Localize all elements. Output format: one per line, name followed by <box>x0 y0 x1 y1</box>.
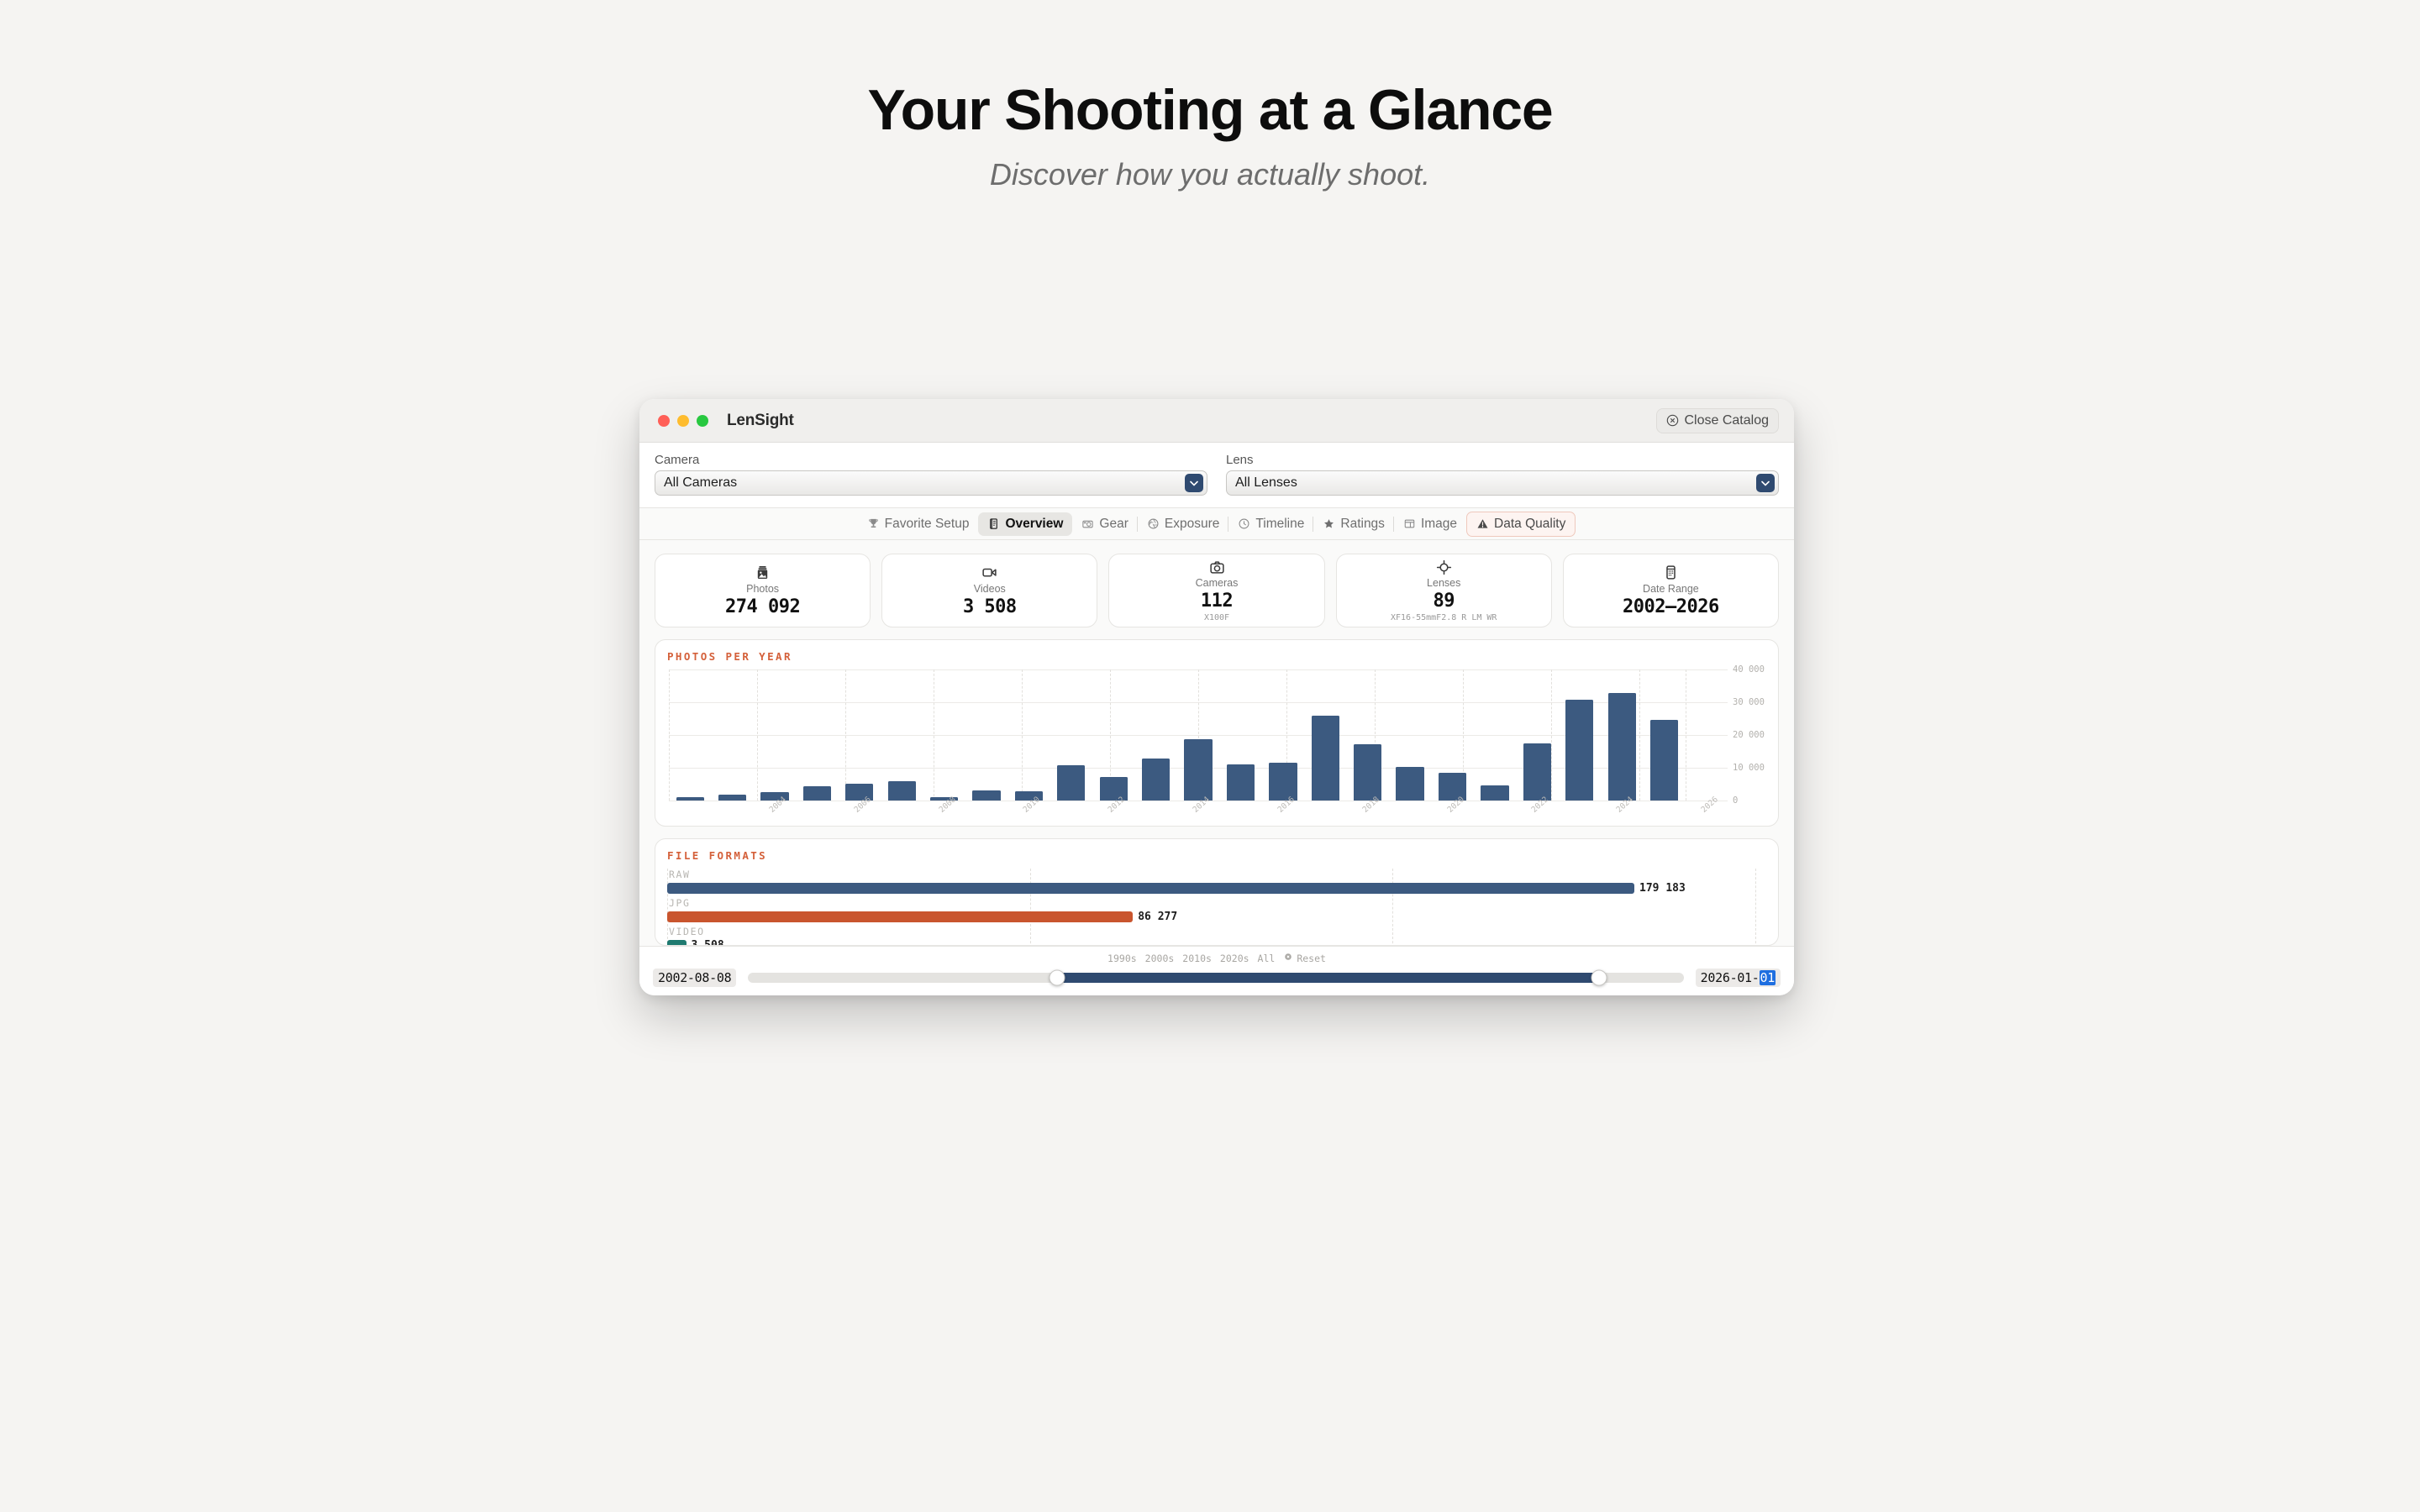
tab-data-quality[interactable]: Data Quality <box>1466 512 1576 537</box>
maximize-window-button[interactable] <box>697 415 708 427</box>
date-range-start-handle[interactable] <box>1049 970 1065 986</box>
x-axis-slot: 2004 <box>754 801 796 819</box>
y-axis-tick-label: 0 <box>1733 795 1738 806</box>
stat-label: Lenses <box>1427 577 1460 589</box>
tab-ratings[interactable]: Ratings <box>1313 512 1394 536</box>
close-window-button[interactable] <box>658 415 670 427</box>
tab-gear[interactable]: Gear <box>1072 512 1137 536</box>
tab-label: Data Quality <box>1494 517 1565 532</box>
end-date-prefix: 2026-01- <box>1701 970 1760 985</box>
x-axis-slot <box>796 801 838 819</box>
tab-timeline[interactable]: Timeline <box>1228 512 1313 536</box>
bar-slot <box>965 669 1007 801</box>
chart-bar[interactable] <box>1312 716 1339 801</box>
bar-slot <box>1134 669 1176 801</box>
stat-label: Cameras <box>1196 577 1239 589</box>
x-axis-slot <box>1219 801 1261 819</box>
camera-retro-icon <box>1081 517 1094 530</box>
date-range-footer: 1990s2000s2010s2020sAllReset 2002-08-08 … <box>639 946 1794 995</box>
x-axis-slot <box>1559 801 1601 819</box>
stat-value: 274 092 <box>725 596 800 617</box>
end-date-field[interactable]: 2026-01-01 <box>1696 969 1781 987</box>
photos-per-year-panel: PHOTOS PER YEAR 010 00020 00030 00040 00… <box>655 639 1779 827</box>
start-date-field[interactable]: 2002-08-08 <box>653 969 736 987</box>
chart-bar[interactable] <box>1608 693 1636 801</box>
bar-slot <box>754 669 796 801</box>
file-format-bar-line: 3 508 <box>667 939 1766 946</box>
x-axis-slot: 2012 <box>1092 801 1134 819</box>
tab-bar: Favorite SetupOverviewGearExposureTimeli… <box>639 508 1794 540</box>
bar-slot <box>1219 669 1261 801</box>
x-axis-slot: 2006 <box>839 801 881 819</box>
date-range-end-handle[interactable] <box>1591 970 1607 986</box>
hero-section: Your Shooting at a Glance Discover how y… <box>0 81 2420 192</box>
stat-label: Photos <box>746 583 779 595</box>
file-format-bar[interactable] <box>667 940 687 946</box>
clock-icon <box>1238 517 1250 530</box>
chart-bar[interactable] <box>1439 773 1466 801</box>
star-icon <box>1323 517 1335 530</box>
trophy-icon <box>867 517 880 530</box>
chart-bar[interactable] <box>1396 767 1423 801</box>
video-camera-icon <box>981 564 997 581</box>
bar-slot <box>1050 669 1092 801</box>
layout-icon <box>1403 517 1416 530</box>
bar-slot <box>1431 669 1473 801</box>
bar-slot <box>1601 669 1643 801</box>
x-axis-slot <box>1389 801 1431 819</box>
page-title: Your Shooting at a Glance <box>0 81 2420 140</box>
stat-sublabel: XF16-55mmF2.8 R LM WR <box>1391 613 1497 622</box>
chart-bar[interactable] <box>1142 759 1170 801</box>
bar-slot <box>796 669 838 801</box>
decade-button-1990s[interactable]: 1990s <box>1107 953 1137 964</box>
tab-overview[interactable]: Overview <box>978 512 1072 536</box>
window-titlebar: LenSight Close Catalog <box>639 399 1794 443</box>
photos-per-year-chart: 010 00020 00030 00040 000 20042006200820… <box>669 669 1728 819</box>
tab-image[interactable]: Image <box>1394 512 1466 536</box>
photos-per-year-title: PHOTOS PER YEAR <box>667 650 1766 663</box>
camera-filter-label: Camera <box>655 453 1207 467</box>
reset-button[interactable]: Reset <box>1283 952 1326 964</box>
end-date-selected-segment[interactable]: 01 <box>1760 970 1776 985</box>
close-catalog-label: Close Catalog <box>1685 413 1770 428</box>
bar-slot <box>1516 669 1558 801</box>
bar-slot <box>1643 669 1685 801</box>
minimize-window-button[interactable] <box>677 415 689 427</box>
window-title: LenSight <box>727 412 794 430</box>
x-axis-slot <box>1134 801 1176 819</box>
x-axis-slot: 2024 <box>1601 801 1643 819</box>
x-axis-slot: 2022 <box>1516 801 1558 819</box>
chart-bar[interactable] <box>1269 763 1297 801</box>
bar-slot <box>1474 669 1516 801</box>
y-axis-tick-label: 40 000 <box>1733 664 1765 675</box>
x-axis-slot <box>711 801 753 819</box>
bar-slot <box>711 669 753 801</box>
file-format-row: RAW179 183 <box>667 869 1766 895</box>
chart-bar[interactable] <box>972 790 1000 801</box>
aperture-icon <box>1147 517 1160 530</box>
stat-value: 2002–2026 <box>1623 596 1719 617</box>
bar-slot <box>839 669 881 801</box>
tab-label: Favorite Setup <box>885 517 970 532</box>
bar-slot <box>1262 669 1304 801</box>
file-formats-title: FILE FORMATS <box>667 849 1766 862</box>
photo-stack-icon <box>755 564 771 581</box>
x-axis-slot <box>669 801 711 819</box>
decade-button-all[interactable]: All <box>1258 953 1276 964</box>
page-subtitle: Discover how you actually shoot. <box>0 157 2420 192</box>
chart-bar[interactable] <box>1057 765 1085 801</box>
chart-bar[interactable] <box>803 786 831 801</box>
file-formats-chart: RAW179 183JPG86 277VIDEO3 508TIFF2 903DN… <box>667 869 1766 946</box>
lens-select-value: All Lenses <box>1235 475 1297 491</box>
date-range-track[interactable] <box>748 973 1683 983</box>
app-window: LenSight Close Catalog Camera All Camera… <box>639 399 1794 995</box>
bar-slot <box>923 669 965 801</box>
file-format-bar-line: 179 183 <box>667 882 1766 895</box>
tab-favorite-setup[interactable]: Favorite Setup <box>858 512 979 536</box>
stat-card-date-range: Date Range2002–2026 <box>1563 554 1779 627</box>
chart-bar[interactable] <box>1184 739 1212 801</box>
document-icon <box>987 517 1000 530</box>
decade-button-2010s[interactable]: 2010s <box>1182 953 1212 964</box>
chart-x-axis: 2004200620082010201220142016201820202022… <box>669 801 1728 819</box>
filters-row: Camera All Cameras Lens All Lenses <box>639 443 1794 508</box>
chart-bar[interactable] <box>1481 785 1508 801</box>
bar-slot <box>1559 669 1601 801</box>
file-format-bar-line: 86 277 <box>667 911 1766 923</box>
reset-circle-icon <box>1283 952 1293 964</box>
x-axis-slot: 2016 <box>1262 801 1304 819</box>
file-format-name: VIDEO <box>667 926 1766 937</box>
x-axis-slot <box>965 801 1007 819</box>
bar-slot <box>1007 669 1050 801</box>
bar-slot <box>1347 669 1389 801</box>
chevron-down-icon[interactable] <box>1756 474 1775 492</box>
camera-select[interactable]: All Cameras <box>655 470 1207 496</box>
chevron-down-icon[interactable] <box>1185 474 1203 492</box>
tab-label: Overview <box>1005 517 1063 532</box>
file-format-bar[interactable] <box>667 883 1634 894</box>
bar-slot <box>669 669 711 801</box>
x-axis-slot <box>1643 801 1685 819</box>
warning-triangle-icon <box>1476 517 1489 530</box>
chart-bar[interactable] <box>1227 764 1255 801</box>
stat-sublabel: X100F <box>1204 613 1229 622</box>
decade-shortcuts: 1990s2000s2010s2020sAllReset <box>653 952 1781 964</box>
x-axis-slot: 2008 <box>923 801 965 819</box>
x-axis-slot: 2010 <box>1007 801 1050 819</box>
tab-exposure[interactable]: Exposure <box>1138 512 1228 536</box>
x-axis-slot: 2018 <box>1347 801 1389 819</box>
camera-filter: Camera All Cameras <box>655 453 1207 496</box>
x-axis-slot <box>1050 801 1092 819</box>
tab-label: Timeline <box>1255 517 1304 532</box>
chart-bar[interactable] <box>1354 744 1381 801</box>
bar-slot <box>1304 669 1346 801</box>
chart-bar[interactable] <box>1523 743 1551 801</box>
stat-card-lenses: Lenses89XF16-55mmF2.8 R LM WR <box>1336 554 1552 627</box>
x-axis-slot <box>1304 801 1346 819</box>
stat-card-videos: Videos3 508 <box>881 554 1097 627</box>
stat-card-photos: Photos274 092 <box>655 554 871 627</box>
decade-button-2000s[interactable]: 2000s <box>1145 953 1175 964</box>
y-axis-tick-label: 10 000 <box>1733 763 1765 773</box>
file-format-value: 3 508 <box>692 939 724 946</box>
x-axis-slot: 2026 <box>1686 801 1728 819</box>
camera-icon <box>1209 559 1225 575</box>
lens-select[interactable]: All Lenses <box>1226 470 1779 496</box>
file-format-bar[interactable] <box>667 911 1133 922</box>
file-format-value: 179 183 <box>1639 882 1686 895</box>
file-format-name: JPG <box>667 897 1766 909</box>
date-range-slider-row: 2002-08-08 2026-01-01 <box>653 969 1781 987</box>
date-range-fill <box>1057 973 1600 983</box>
page-root: Your Shooting at a Glance Discover how y… <box>0 0 2420 1512</box>
stat-value: 3 508 <box>963 596 1017 617</box>
bar-slot <box>1686 669 1728 801</box>
x-axis-slot <box>1474 801 1516 819</box>
decade-button-2020s[interactable]: 2020s <box>1220 953 1249 964</box>
x-axis-slot <box>881 801 923 819</box>
file-format-row: VIDEO3 508 <box>667 926 1766 946</box>
tab-label: Exposure <box>1165 517 1219 532</box>
lens-filter-label: Lens <box>1226 453 1779 467</box>
y-axis-tick-label: 30 000 <box>1733 697 1765 707</box>
x-axis-slot: 2014 <box>1177 801 1219 819</box>
chart-bar[interactable] <box>1565 700 1593 801</box>
tab-label: Ratings <box>1340 517 1385 532</box>
stat-cards: Photos274 092Videos3 508Cameras112X100FL… <box>655 554 1779 627</box>
chart-bar[interactable] <box>888 781 916 801</box>
stat-card-cameras: Cameras112X100F <box>1108 554 1324 627</box>
file-formats-panel: FILE FORMATS RAW179 183JPG86 277VIDEO3 5… <box>655 838 1779 946</box>
calendar-icon <box>1663 564 1679 581</box>
bar-slot <box>1092 669 1134 801</box>
file-format-row: JPG86 277 <box>667 897 1766 923</box>
traffic-lights <box>658 415 708 427</box>
stat-label: Date Range <box>1643 583 1699 595</box>
bar-slot <box>1177 669 1219 801</box>
chart-bar[interactable] <box>718 795 746 801</box>
chart-bar[interactable] <box>1100 777 1128 801</box>
tab-label: Gear <box>1099 517 1128 532</box>
lens-filter: Lens All Lenses <box>1226 453 1779 496</box>
tab-label: Image <box>1421 517 1457 532</box>
target-icon <box>1436 559 1452 575</box>
close-catalog-button[interactable]: Close Catalog <box>1656 408 1780 433</box>
stat-label: Videos <box>974 583 1006 595</box>
bar-slot <box>1389 669 1431 801</box>
camera-select-value: All Cameras <box>664 475 737 491</box>
file-format-name: RAW <box>667 869 1766 880</box>
chart-bars <box>669 669 1728 801</box>
chart-bar[interactable] <box>1650 720 1678 801</box>
bar-slot <box>881 669 923 801</box>
stat-value: 112 <box>1201 591 1233 612</box>
x-axis-slot: 2020 <box>1431 801 1473 819</box>
main-content: Photos274 092Videos3 508Cameras112X100FL… <box>639 540 1794 946</box>
close-circle-icon <box>1666 414 1679 427</box>
y-axis-tick-label: 20 000 <box>1733 730 1765 740</box>
stat-value: 89 <box>1433 591 1455 612</box>
file-format-value: 86 277 <box>1138 911 1177 923</box>
reset-label: Reset <box>1297 953 1326 964</box>
